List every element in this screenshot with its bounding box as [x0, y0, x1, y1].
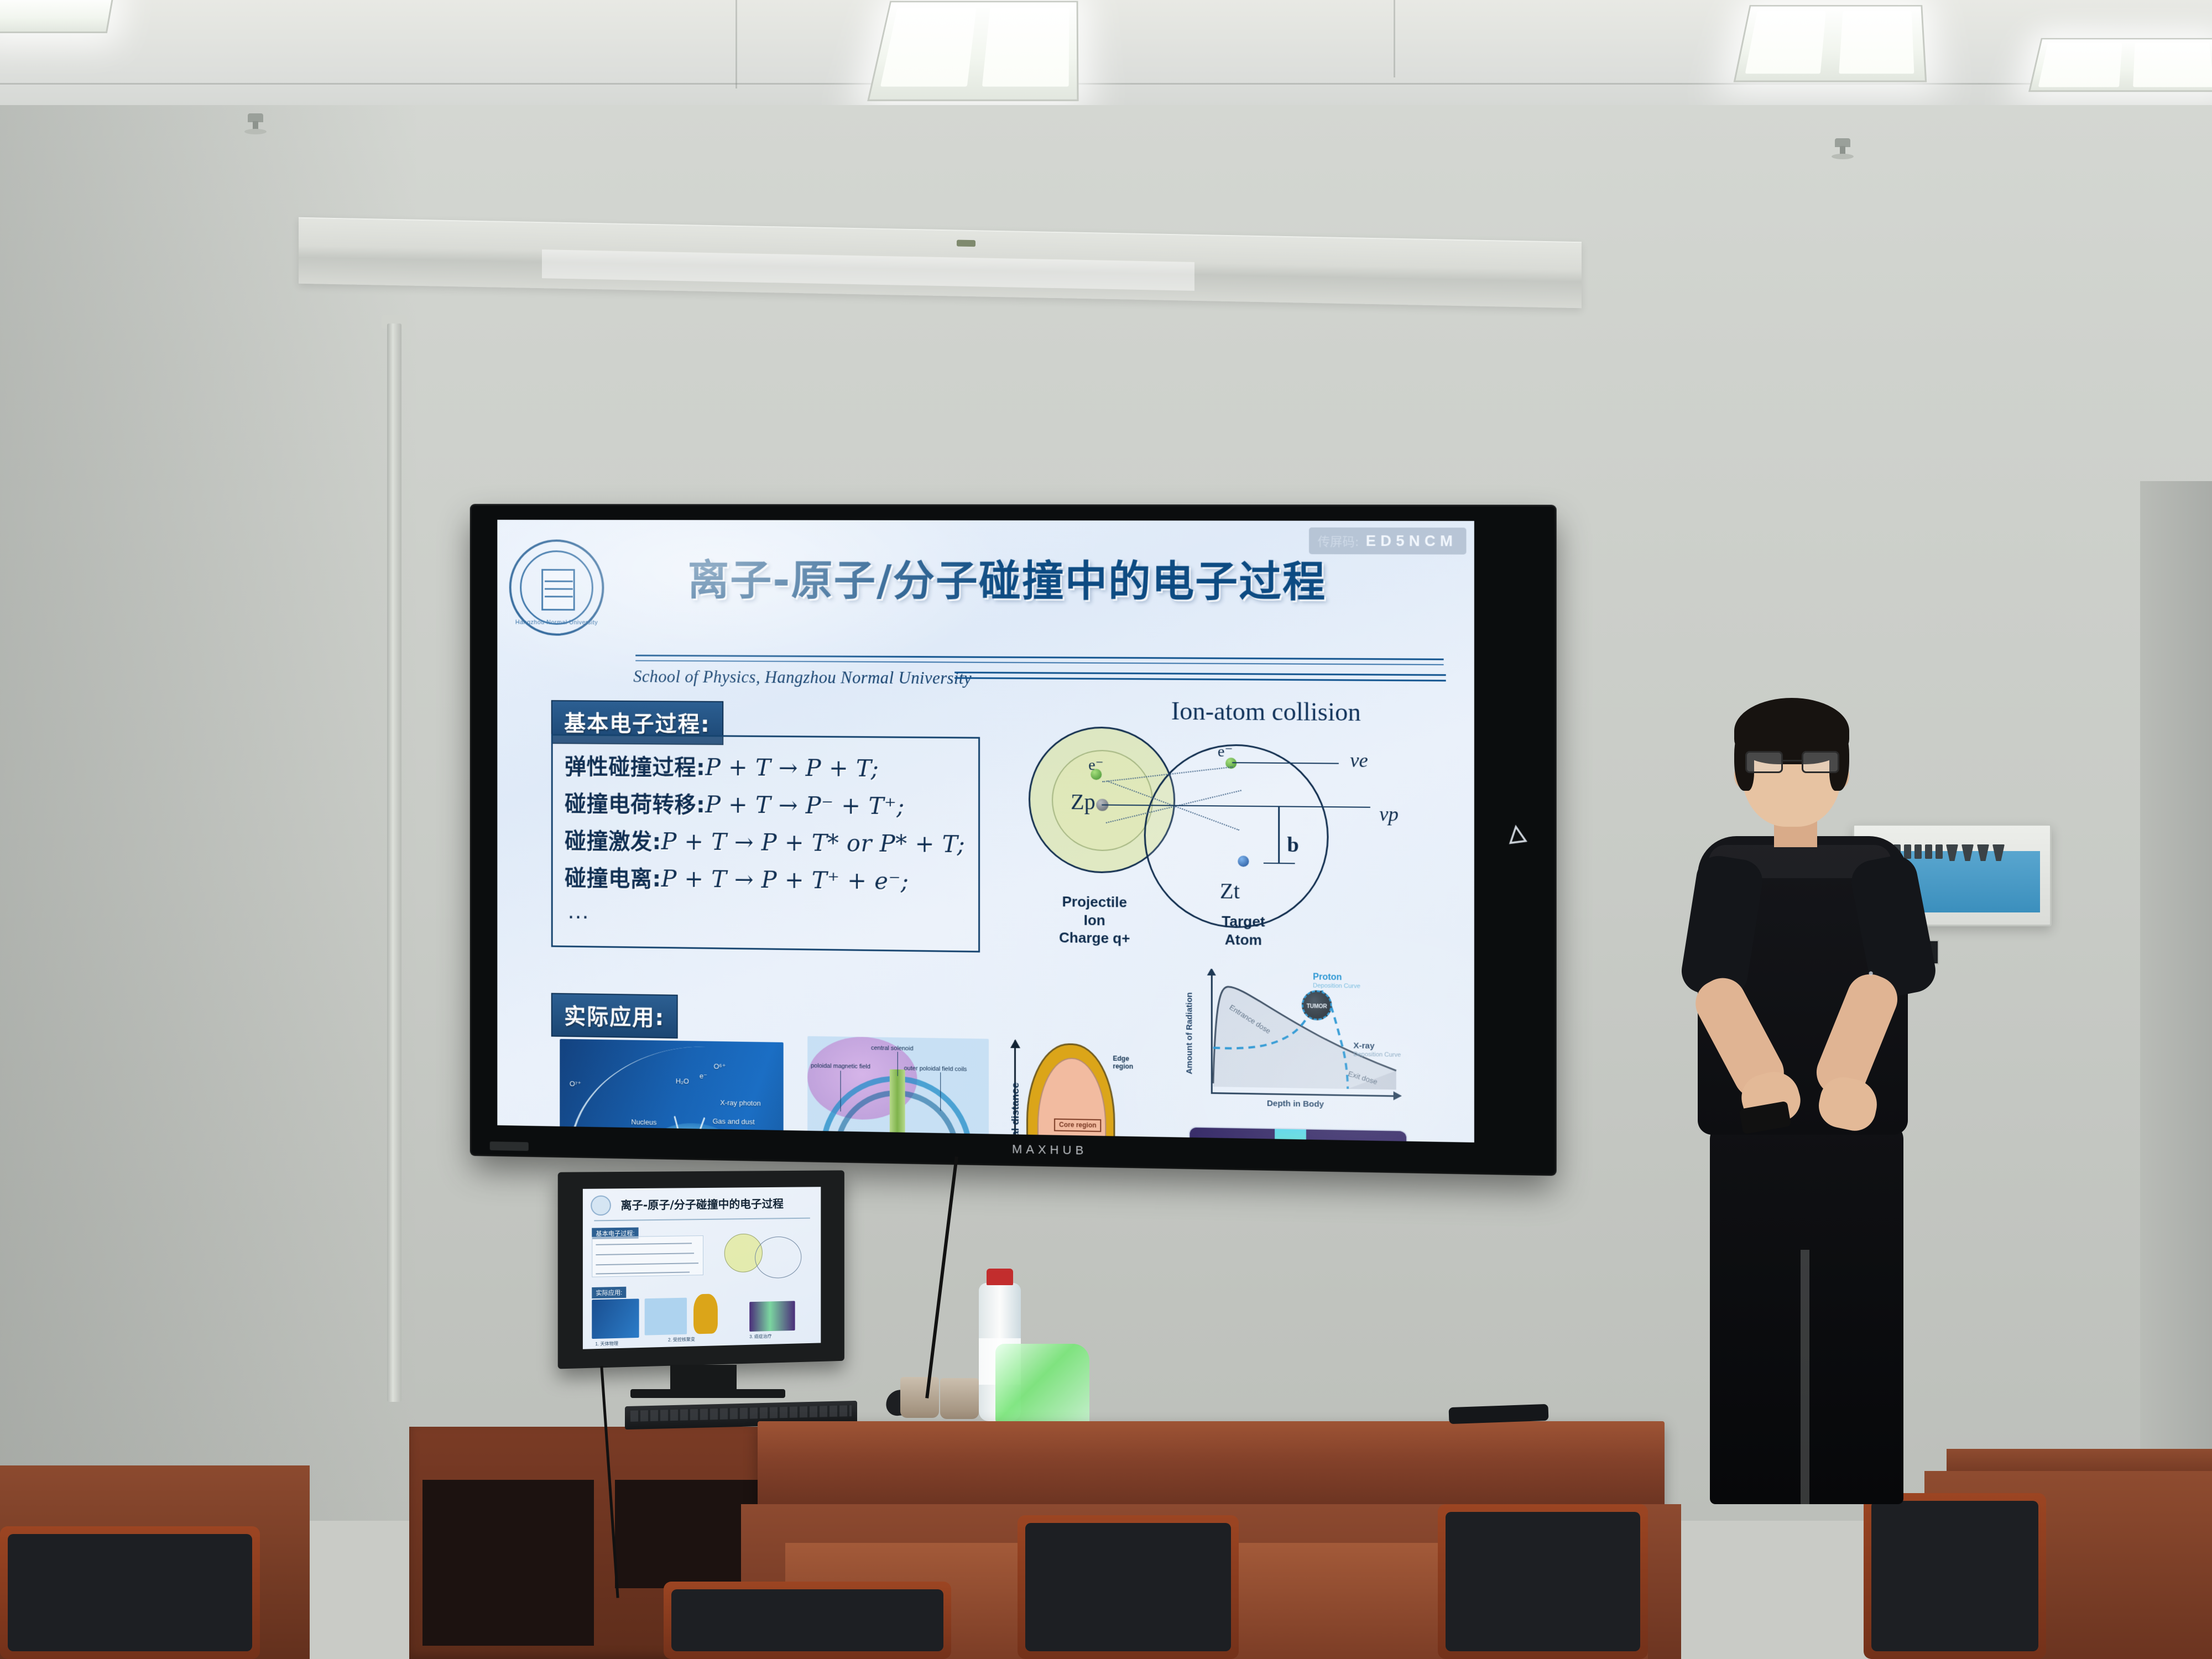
electron-label: e⁻: [1218, 742, 1233, 761]
electron-velocity-label: νe: [1350, 749, 1368, 773]
monitor-caption-1: 1. 天体物理: [595, 1340, 618, 1347]
app-image-astrophysics: O⁷⁺ O⁶⁺ H₂O e⁻ X-ray photon Gas and dust…: [560, 1039, 783, 1142]
proton-curve-label: Proton: [1313, 972, 1342, 983]
monitor-tag-applications: 实际应用:: [592, 1287, 626, 1298]
axis-label-vertical: Vertical distance: [1010, 1082, 1022, 1142]
app-image-tokamak: central solenoid poloidal magnetic field…: [807, 1036, 989, 1142]
label-electron: e⁻: [700, 1072, 707, 1081]
display-logo-icon: △: [1502, 819, 1531, 848]
label-h2o: H₂O: [676, 1077, 689, 1085]
label-nucleus: Nucleus: [631, 1118, 656, 1126]
bragg-peak-chart: TUMOR Proton Deposition Curve X-ray Depo…: [1180, 968, 1415, 1123]
ceiling-light: [867, 1, 1078, 101]
central-solenoid: [890, 1070, 905, 1142]
proton-therapy-image: ENTRANCE DOSE TARGETED PROTON THERAPY De…: [1180, 1126, 1415, 1142]
chair[interactable]: [1438, 1504, 1648, 1659]
zt-label: Zt: [1220, 878, 1240, 904]
monitor-ion-diagram: [721, 1230, 808, 1279]
cast-code-label: 传屏码:: [1318, 532, 1359, 550]
comet-tail: [722, 1134, 783, 1142]
monitor-seal-icon: [591, 1196, 611, 1216]
label-poloidal-field: poloidal magnetic field: [811, 1062, 870, 1070]
chart-y-axis-label: Amount of Radiation: [1185, 992, 1194, 1074]
cast-code-value: ED5NCM: [1366, 532, 1457, 550]
ir-sensor: [490, 1141, 529, 1151]
ceiling-light: [1734, 5, 1927, 82]
confidence-monitor[interactable]: 离子-原子/分子碰撞中的电子过程 基本电子过程: 实际应用: 1. 天体物理 2…: [558, 1170, 844, 1369]
monitor-base: [630, 1389, 785, 1398]
monitor-screen: 离子-原子/分子碰撞中的电子过程 基本电子过程: 实际应用: 1. 天体物理 2…: [583, 1187, 821, 1349]
label-o7: O⁷⁺: [570, 1079, 581, 1088]
side-wall: [2140, 481, 2212, 1532]
ceiling-grid-line: [1394, 0, 1395, 77]
remote-control[interactable]: [1449, 1404, 1549, 1424]
equations-panel: 弹性碰撞过程:P + T → P + T; 碰撞电荷转移:P + T → P⁻ …: [551, 734, 980, 952]
equation-ellipsis: …: [567, 898, 978, 928]
monitor-title-rule: [594, 1218, 810, 1222]
chair[interactable]: [0, 1526, 260, 1659]
screen-cast-code: 传屏码: ED5NCM: [1309, 528, 1467, 555]
display-brand-label: MAXHUB: [994, 1142, 1105, 1159]
label-outer-poloidal-coils: outer poloidal field coils: [904, 1065, 967, 1073]
presenter: ●: [1637, 691, 1980, 1504]
wall-display[interactable]: MAXHUB △ Hangzhou Normal University 离子-原…: [472, 505, 1555, 1174]
leader-line: [898, 1052, 898, 1076]
ceiling-grid-line: [0, 83, 2212, 85]
zp-label: Zp: [1071, 789, 1095, 815]
edge-region-label: Edge region: [1113, 1055, 1146, 1071]
label-central-solenoid: central solenoid: [871, 1045, 914, 1052]
cup: [940, 1378, 979, 1419]
subtitle-rule: [954, 672, 1446, 686]
leader-line: [940, 1072, 941, 1111]
xray-curve-label: X-ray: [1353, 1041, 1374, 1051]
electron-label: e⁻: [1088, 755, 1103, 774]
monitor-thumb-tokamak: [645, 1298, 687, 1335]
wall-shading: [0, 105, 420, 1521]
chair[interactable]: [1864, 1493, 2046, 1659]
sprinkler-head-icon: [243, 113, 268, 138]
tumor-marker: TUMOR: [1302, 990, 1332, 1020]
monitor-caption-2: 2. 受控核聚变: [668, 1336, 695, 1343]
sprinkler-head-icon: [1830, 138, 1855, 163]
plastic-bag: [995, 1344, 1089, 1427]
chair[interactable]: [664, 1582, 951, 1659]
slide-subtitle: School of Physics, Hangzhou Normal Unive…: [633, 667, 972, 688]
front-desk: [758, 1421, 1665, 1510]
cup: [900, 1377, 939, 1418]
ceiling-light: [0, 0, 114, 33]
impact-parameter-line: [1278, 806, 1280, 864]
ceiling-light: [2028, 38, 2212, 92]
ion-atom-diagram: Ion-atom collision Zp Zt e⁻ e⁻: [1004, 695, 1463, 961]
monitor-equations: [592, 1235, 703, 1277]
slide-title: 离子-原子/分子碰撞中的电子过程: [659, 546, 1355, 609]
university-seal-icon: Hangzhou Normal University: [509, 539, 604, 635]
presentation-slide: Hangzhou Normal University 离子-原子/分子碰撞中的电…: [497, 520, 1474, 1142]
wall-conduit: [387, 324, 401, 1402]
equation-row: 碰撞电离:P + T → P + T⁺ + e⁻;: [565, 860, 978, 897]
core-region-label: Core region: [1054, 1119, 1102, 1133]
equation-row: 弹性碰撞过程:P + T → P + T;: [565, 749, 978, 784]
target-caption: Target Atom: [1182, 912, 1305, 950]
monitor-thumb-plasma: [693, 1293, 718, 1334]
label-o6: O⁶⁺: [714, 1062, 726, 1071]
impact-parameter-label: b: [1287, 833, 1298, 858]
chart-x-axis-label: Depth in Body: [1267, 1099, 1324, 1109]
label-xray-photon: X-ray photon: [720, 1098, 760, 1107]
leg-gap: [1801, 1250, 1809, 1504]
equation-row: 碰撞激发:P + T → P + T* or P* + T;: [565, 823, 978, 859]
monitor-slide-title: 离子-原子/分子碰撞中的电子过程: [611, 1194, 793, 1212]
shirt-logo: ●: [1868, 968, 1874, 979]
chair[interactable]: [1018, 1515, 1239, 1659]
section-tag-applications: 实际应用:: [551, 993, 678, 1039]
ceiling-grid-line: [735, 0, 737, 88]
xray-curve-sublabel: Deposition Curve: [1353, 1051, 1401, 1058]
ion-atom-title: Ion-atom collision: [1120, 696, 1412, 727]
monitor-thumb-therapy: [749, 1301, 795, 1331]
projectile-caption: Projectile Ion Charge q+: [1025, 892, 1164, 948]
proton-beam: [1275, 1129, 1306, 1142]
lecture-room: MAXHUB △ Hangzhou Normal University 离子-原…: [0, 0, 2212, 1659]
monitor-thumb-comet: [592, 1298, 639, 1339]
slide-header: Hangzhou Normal University 离子-原子/分子碰撞中的电…: [497, 520, 1474, 661]
plasma-cross-section: Vertical distance Major radius Core regi…: [1004, 1035, 1149, 1142]
seal-text: Hangzhou Normal University: [512, 619, 602, 627]
label-gas-and-dust: Gas and dust: [713, 1117, 755, 1126]
proton-curve-sublabel: Deposition Curve: [1313, 982, 1360, 989]
monitor-stand: [670, 1365, 737, 1390]
target-nucleus: [1238, 855, 1249, 867]
glasses-icon: [1745, 751, 1839, 774]
projectile-velocity-label: νp: [1379, 802, 1399, 826]
monitor-caption-3: 3. 癌症治疗: [749, 1333, 771, 1340]
therapy-illustration: ENTRANCE DOSE: [1188, 1126, 1407, 1142]
leader-line: [841, 1071, 841, 1112]
equation-row: 碰撞电荷转移:P + T → P⁻ + T⁺;: [565, 786, 978, 821]
